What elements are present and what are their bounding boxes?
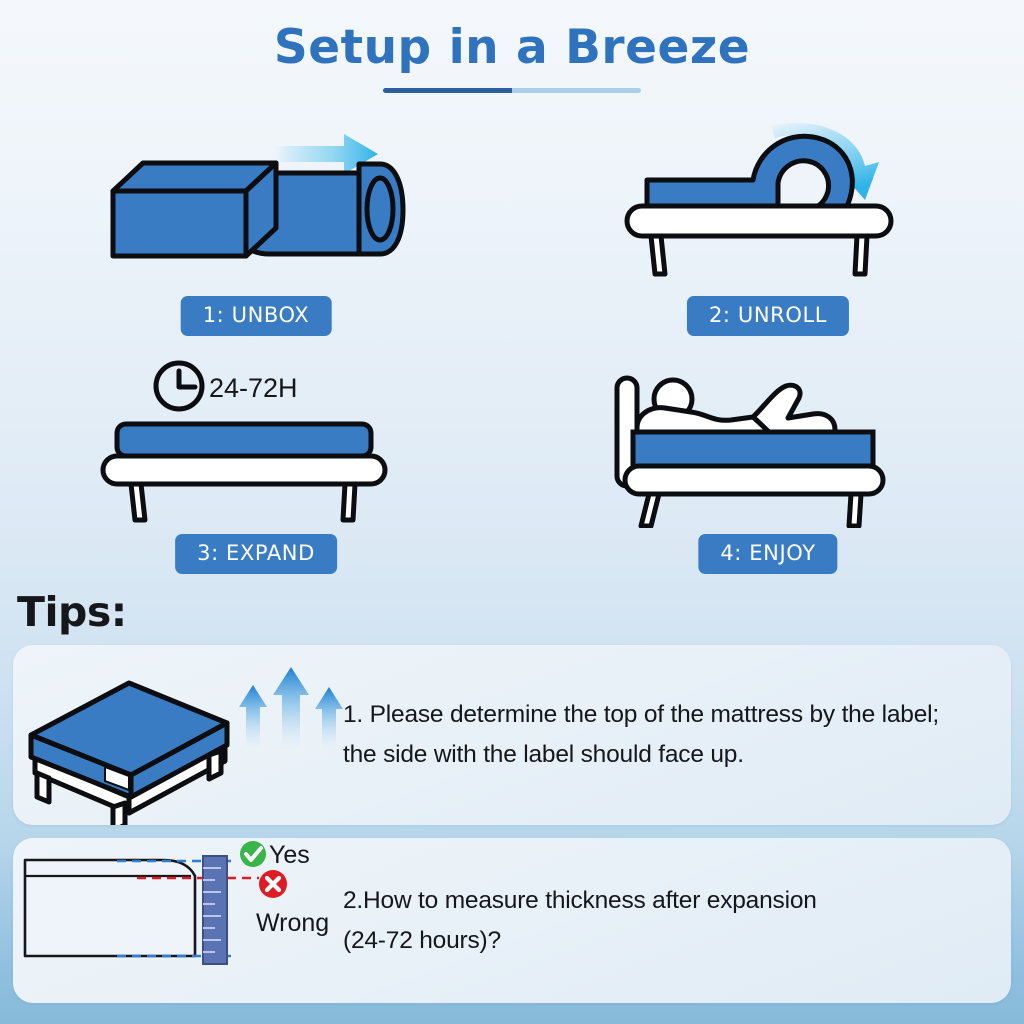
tip-2-line-2: (24-72 hours)? <box>343 921 985 961</box>
step-unroll-art <box>512 118 1024 290</box>
tip-1-line-2: the side with the label should face up. <box>343 735 985 775</box>
tip-2-art: Yes Wrong <box>13 838 343 1003</box>
wrong-label: Wrong <box>256 909 329 937</box>
tip-2-line-1: 2.How to measure thickness after expansi… <box>343 881 985 921</box>
header: Setup in a Breeze <box>0 22 1024 93</box>
bed-base <box>103 456 385 520</box>
tip-2-text: 2.How to measure thickness after expansi… <box>343 881 1011 960</box>
tip-1-line-1: 1. Please determine the top of the mattr… <box>343 695 985 735</box>
step-unbox-art <box>0 118 512 290</box>
bed-base <box>625 466 883 526</box>
flat-mattress-on-base-icon: 24-72H <box>91 356 421 528</box>
step-expand: 24-72H 3: EXPAND <box>0 356 512 581</box>
tip-1-text: 1. Please determine the top of the mattr… <box>343 695 1011 774</box>
ruler <box>203 856 227 964</box>
bed-base <box>627 206 891 274</box>
step-expand-label: 3: EXPAND <box>175 534 337 574</box>
mattress-cross-section <box>25 860 195 956</box>
step-unbox: 1: UNBOX <box>0 118 512 343</box>
tip-1-art <box>13 645 343 825</box>
step-enjoy-label: 4: ENJOY <box>698 534 837 574</box>
tip-card-measure-thickness: Yes Wrong 2.How to measure thickness aft… <box>13 838 1011 1003</box>
sleeping-person <box>637 380 835 434</box>
up-arrows-icon <box>239 667 343 749</box>
title-underline <box>383 88 641 93</box>
step-unroll: 2: UNROLL <box>512 118 1024 343</box>
infographic-page: Setup in a Breeze <box>0 0 1024 1024</box>
step-unbox-label: 1: UNBOX <box>181 296 332 336</box>
step-enjoy-art <box>512 356 1024 528</box>
tip-card-label-orientation: 1. Please determine the top of the mattr… <box>13 645 1011 825</box>
clock-icon <box>156 363 202 409</box>
mattress <box>117 424 371 456</box>
page-title: Setup in a Breeze <box>0 22 1024 74</box>
step-unroll-label: 2: UNROLL <box>687 296 849 336</box>
tips-heading: Tips: <box>17 588 127 636</box>
person-sleeping-on-bed-icon <box>603 356 933 528</box>
unrolling-mattress-icon <box>603 118 933 290</box>
expand-time-note: 24-72H <box>209 373 298 403</box>
x-circle-icon <box>259 870 287 898</box>
mattress-thickness-ruler-icon: Yes Wrong <box>13 838 343 1003</box>
check-circle-icon <box>240 841 266 867</box>
mattress-box <box>113 163 276 256</box>
step-expand-art: 24-72H <box>0 356 512 528</box>
yes-label: Yes <box>269 841 310 869</box>
isometric-mattress-with-label-icon <box>13 645 343 825</box>
steps-grid: 1: UNBOX <box>0 118 1024 568</box>
step-enjoy: 4: ENJOY <box>512 356 1024 581</box>
box-with-rolled-mattress-icon <box>91 118 421 290</box>
